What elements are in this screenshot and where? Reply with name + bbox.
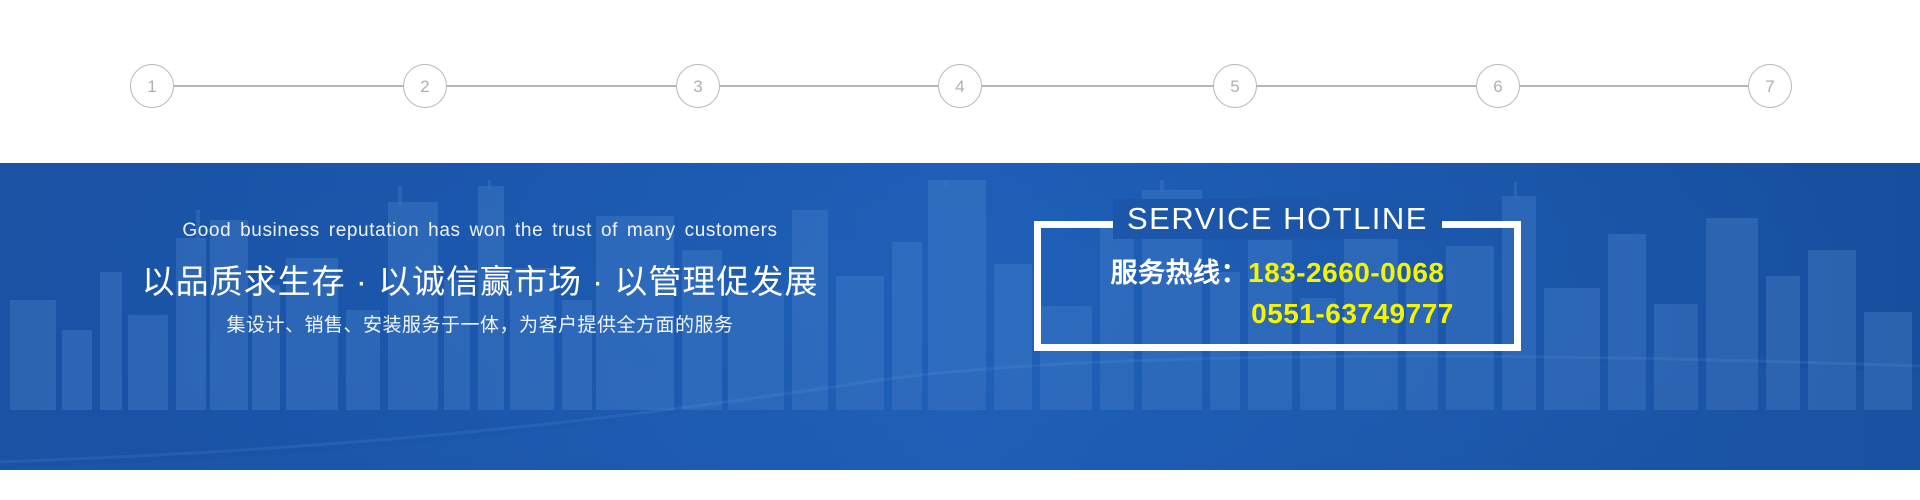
service-hotline-block: SERVICE HOTLINE 服务热线：183-2660-0068 0551-… [1034,221,1521,351]
stepper-section: 1 2 3 4 5 6 7 [0,0,1920,163]
slogan-headline: 以品质求生存 · 以诚信赢市场 · 以管理促发展 [0,255,960,303]
step-node-7[interactable]: 7 [1748,64,1792,108]
hotline-primary-line: 服务热线：183-2660-0068 [1034,251,1521,290]
slogan-subtitle: 集设计、销售、安装服务于一体，为客户提供全方面的服务 [0,310,960,337]
step-node-4[interactable]: 4 [938,64,982,108]
step-node-3[interactable]: 3 [676,64,720,108]
hotline-label: 服务热线： [1111,258,1249,288]
step-connector [1520,85,1748,87]
step-connector [447,85,676,87]
step-node-label: 4 [955,78,964,95]
step-node-label: 7 [1765,78,1774,95]
step-node-label: 1 [147,78,156,95]
hotline-number-primary[interactable]: 183-2660-0068 [1248,257,1444,288]
step-node-label: 5 [1230,78,1239,95]
step-node-label: 2 [420,78,429,95]
step-node-6[interactable]: 6 [1476,64,1520,108]
slogan-english: Good business reputation has won the tru… [0,220,960,242]
step-node-1[interactable]: 1 [130,64,174,108]
step-node-label: 6 [1493,78,1502,95]
promo-banner: Good business reputation has won the tru… [0,163,1920,470]
step-connector [982,85,1213,87]
slogan-block: Good business reputation has won the tru… [0,163,960,470]
step-node-2[interactable]: 2 [403,64,447,108]
hotline-number-secondary[interactable]: 0551-63749777 [1251,298,1454,329]
step-node-label: 3 [693,78,702,95]
step-connector [1257,85,1476,87]
step-connector [174,85,403,87]
step-progress-bar: 1 2 3 4 5 6 7 [0,0,1920,163]
hotline-secondary-line: 0551-63749777 [1034,298,1521,330]
step-node-5[interactable]: 5 [1213,64,1257,108]
step-connector [720,85,938,87]
